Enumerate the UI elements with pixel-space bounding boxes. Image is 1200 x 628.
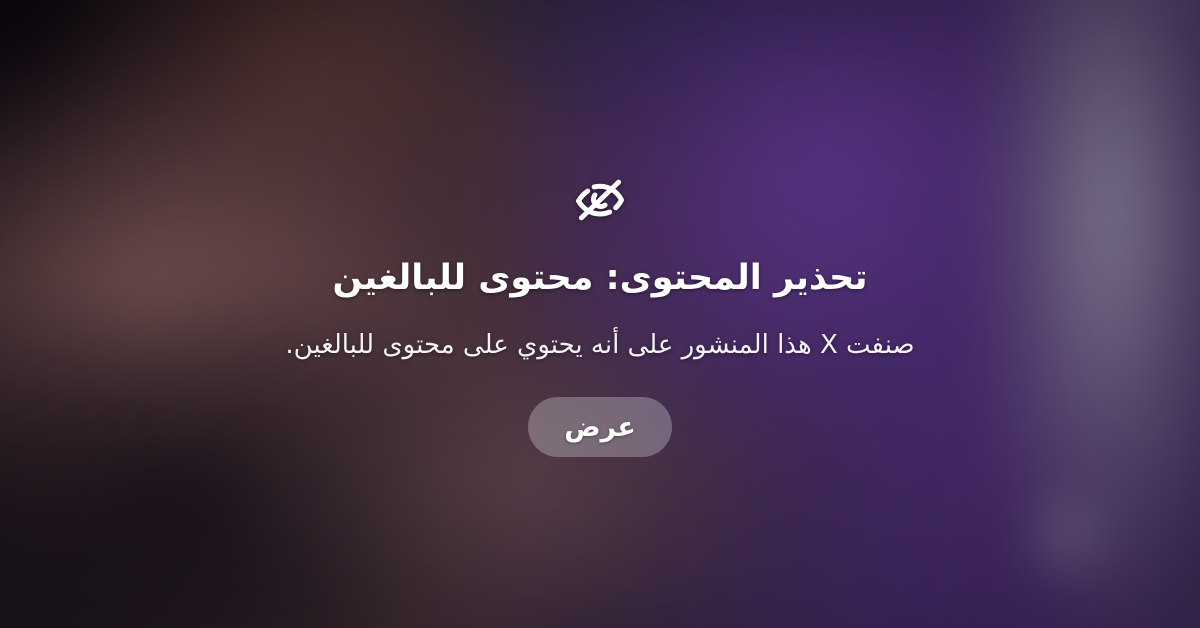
content-warning-screen: تحذير المحتوى: محتوى للبالغين صنفت X هذا… [0,0,1200,628]
content-warning-panel: تحذير المحتوى: محتوى للبالغين صنفت X هذا… [0,0,1200,628]
eye-off-icon [571,171,629,229]
content-warning-description: صنفت X هذا المنشور على أنه يحتوي على محت… [285,327,914,363]
view-button[interactable]: عرض [528,397,672,457]
content-warning-title: تحذير المحتوى: محتوى للبالغين [333,257,868,301]
